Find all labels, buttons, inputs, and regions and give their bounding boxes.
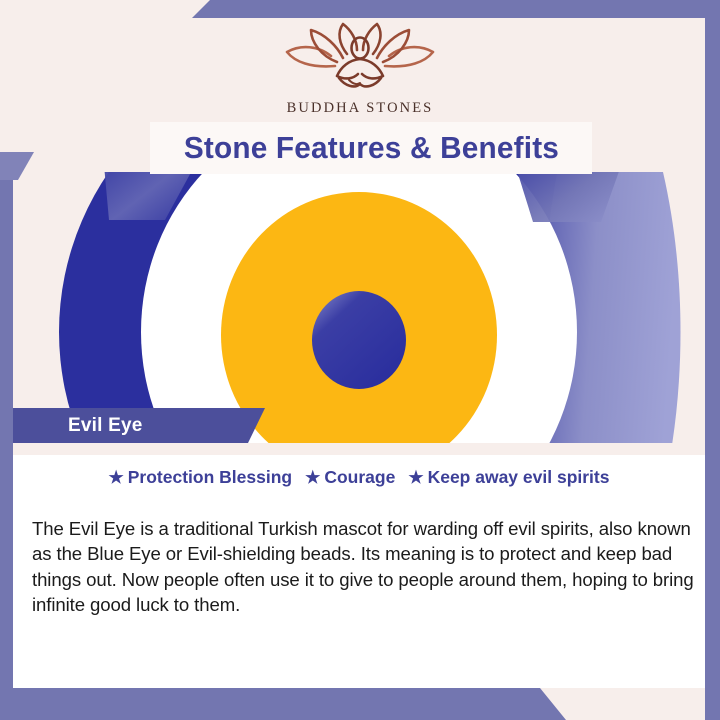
star-icon: ★ — [408, 469, 423, 486]
page-title: Stone Features & Benefits — [183, 130, 558, 166]
lotus-meditation-icon — [277, 22, 443, 94]
brand-name: BUDDHA STONES — [287, 100, 434, 117]
frame-border-left — [0, 152, 13, 720]
bead-pupil — [312, 291, 406, 389]
feature-label: Keep away evil spirits — [428, 467, 610, 488]
infographic-page: BUDDHA STONES Stone Features & Benefits … — [0, 0, 720, 720]
frame-border-top — [0, 0, 720, 18]
feature-label: Protection Blessing — [128, 467, 292, 488]
hero-caption-label: Evil Eye — [68, 415, 142, 437]
star-icon: ★ — [305, 469, 320, 486]
page-title-banner: Stone Features & Benefits — [150, 122, 592, 174]
description-text: The Evil Eye is a traditional Turkish ma… — [32, 516, 694, 618]
evil-eye-illustration — [13, 172, 705, 443]
feature-item-protection-blessing: ★ Protection Blessing — [109, 467, 293, 488]
feature-item-keep-away-evil-spirits: ★ Keep away evil spirits — [408, 467, 609, 488]
star-icon: ★ — [109, 469, 124, 486]
content-panel: ★ Protection Blessing ★ Courage ★ Keep a… — [13, 455, 705, 688]
feature-item-courage: ★ Courage — [305, 467, 395, 488]
evil-eye-hero-image — [13, 172, 705, 443]
hero-caption-tag: Evil Eye — [13, 408, 265, 443]
frame-border-bottom — [0, 688, 720, 720]
feature-list: ★ Protection Blessing ★ Courage ★ Keep a… — [13, 467, 705, 488]
feature-label: Courage — [324, 467, 395, 488]
brand-logo: BUDDHA STONES — [0, 22, 720, 117]
